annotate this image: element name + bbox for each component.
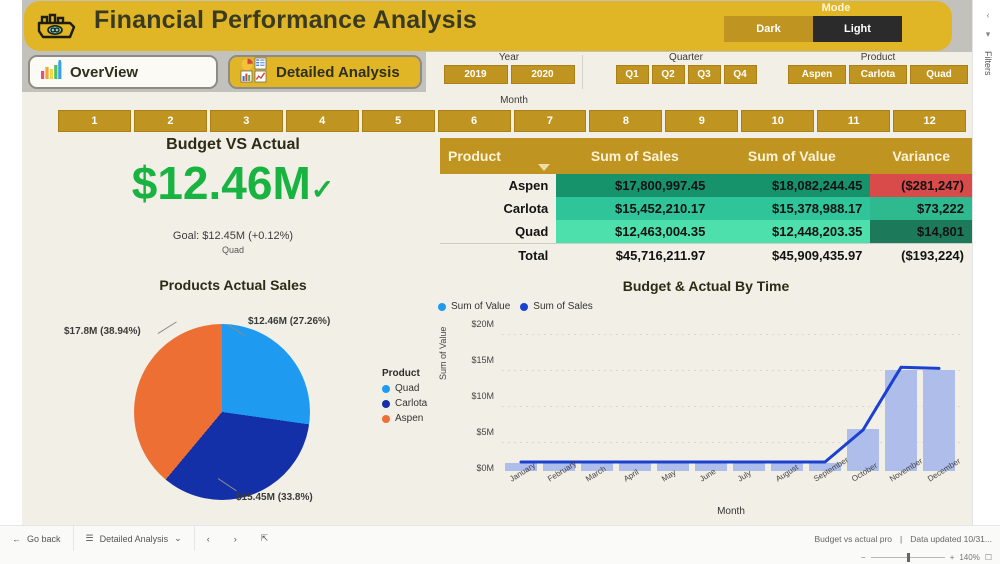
mode-light-button[interactable]: Light xyxy=(813,16,902,42)
tab-bar: OverView xyxy=(24,55,424,91)
quarter-option-q4[interactable]: Q4 xyxy=(724,65,757,84)
month-option-10[interactable]: 10 xyxy=(741,110,814,132)
sort-descending-icon[interactable] xyxy=(538,164,550,171)
legend-item-quad[interactable]: Quad xyxy=(382,383,427,394)
legend-item-sum-of-value[interactable]: Sum of Value xyxy=(438,301,510,312)
column-header-sum-of-value[interactable]: Sum of Value xyxy=(713,138,870,174)
data-updated: Data updated 10/31... xyxy=(910,534,992,544)
cell-sales-aspen: $17,800,997.45 xyxy=(556,174,713,197)
mode-toggle[interactable]: Dark Light xyxy=(724,16,902,42)
check-icon: ✓ xyxy=(311,174,334,205)
filters-pane-label: Filters xyxy=(983,51,993,76)
go-back-button[interactable]: ← Go back xyxy=(0,526,73,551)
tab-overview-label: OverView xyxy=(70,64,138,81)
table-header-row: Product Sum of Sales Sum of Value Varian… xyxy=(440,138,972,174)
quarter-option-q2[interactable]: Q2 xyxy=(652,65,685,84)
fit-to-page-icon[interactable]: ☐ xyxy=(985,553,992,562)
product-option-aspen[interactable]: Aspen xyxy=(788,65,846,84)
pie-label-quad: $12.46M (27.26%) xyxy=(248,316,330,327)
y-tick-15: $15M xyxy=(454,355,494,365)
legend-item-sum-of-sales[interactable]: Sum of Sales xyxy=(520,301,592,312)
y-tick-20: $20M xyxy=(454,319,494,329)
combo-chart[interactable]: Sum of Value $0M $5M $10M $15M $20M xyxy=(440,318,972,518)
column-header-variance[interactable]: Variance xyxy=(870,138,972,174)
info-divider: | xyxy=(900,534,902,544)
column-header-product[interactable]: Product xyxy=(440,138,556,174)
dashboard-charts-icon xyxy=(240,57,268,88)
page-selector-label: Detailed Analysis xyxy=(100,534,169,544)
legend-dot-sum-of-sales xyxy=(520,303,528,311)
slicer-quarter-label: Quarter xyxy=(596,52,776,63)
legend-item-aspen[interactable]: Aspen xyxy=(382,413,427,424)
slicer-bar: Year 2019 2020 Quarter Q1 Q2 Q3 Q4 xyxy=(426,52,972,92)
go-back-label: Go back xyxy=(27,534,61,544)
combo-chart-x-axis-label: Month xyxy=(502,506,960,517)
slicer-product: Product Aspen Carlota Quad xyxy=(784,52,972,84)
pie-legend-title: Product xyxy=(382,368,427,379)
pie-slices[interactable] xyxy=(134,324,310,500)
combo-chart-legend: Sum of Value Sum of Sales xyxy=(438,301,593,312)
tab-detailed-analysis[interactable]: Detailed Analysis xyxy=(228,55,422,89)
y-tick-0: $0M xyxy=(454,463,494,473)
y-tick-5: $5M xyxy=(454,427,494,437)
combo-chart-title: Budget & Actual By Time xyxy=(440,278,972,294)
cell-product-carlota: Carlota xyxy=(440,197,556,220)
report-info: Budget vs actual pro | Data updated 10/3… xyxy=(815,526,992,551)
legend-dot-sum-of-value xyxy=(438,303,446,311)
cell-value-aspen: $18,082,244.45 xyxy=(713,174,870,197)
combo-chart-plot-area xyxy=(502,326,960,471)
previous-page-button[interactable]: ‹ xyxy=(195,526,222,551)
month-option-2[interactable]: 2 xyxy=(134,110,207,132)
zoom-control[interactable]: − + 140% ☐ xyxy=(861,551,992,564)
product-option-carlota[interactable]: Carlota xyxy=(849,65,907,84)
tab-detailed-analysis-label: Detailed Analysis xyxy=(276,64,400,81)
cell-value-total: $45,909,435.97 xyxy=(713,244,870,268)
chevron-left-icon: ‹ xyxy=(207,534,210,544)
filter-funnel-icon[interactable]: ▾ xyxy=(978,29,998,40)
pie-chart[interactable]: $12.46M (27.26%) $15.45M (33.8%) $17.8M … xyxy=(46,300,446,515)
canvas-left-margin xyxy=(0,0,22,525)
slicer-year: Year 2019 2020 xyxy=(436,52,582,84)
sum-of-sales-line[interactable] xyxy=(502,326,960,471)
pie-chart-title: Products Actual Sales xyxy=(46,277,420,293)
legend-label-sum-of-value: Sum of Value xyxy=(451,301,510,312)
mode-dark-button[interactable]: Dark xyxy=(724,16,813,42)
quarter-option-q3[interactable]: Q3 xyxy=(688,65,721,84)
table-row[interactable]: Quad $12,463,004.35 $12,448,203.35 $14,8… xyxy=(440,220,972,244)
hamburger-icon: ☰ xyxy=(86,533,94,544)
cell-product-aspen: Aspen xyxy=(440,174,556,197)
kpi-value: $12.46M xyxy=(132,157,311,209)
kpi-goal: Goal: $12.45M (+0.12%) xyxy=(46,230,420,242)
report-name: Budget vs actual pro xyxy=(815,534,893,544)
page-title: Financial Performance Analysis xyxy=(94,6,477,35)
month-option-11[interactable]: 11 xyxy=(817,110,890,132)
kpi-subtitle: Quad xyxy=(46,245,420,255)
tab-overview[interactable]: OverView xyxy=(28,55,218,89)
month-option-7[interactable]: 7 xyxy=(514,110,587,132)
slicer-month: 1 2 3 4 5 6 7 8 9 10 11 12 xyxy=(58,110,966,132)
legend-label-aspen: Aspen xyxy=(395,413,423,424)
header-region: Financial Performance Analysis Mode Dark… xyxy=(22,0,972,92)
zoom-slider[interactable] xyxy=(871,557,945,558)
zoom-out-button[interactable]: − xyxy=(861,553,866,562)
cell-variance-quad: $14,801 xyxy=(870,220,972,244)
power-bi-report: Financial Performance Analysis Mode Dark… xyxy=(0,0,1000,563)
legend-label-sum-of-sales: Sum of Sales xyxy=(533,301,592,312)
y-tick-10: $10M xyxy=(454,391,494,401)
legend-dot-carlota xyxy=(382,400,390,408)
slicer-quarter: Quarter Q1 Q2 Q3 Q4 xyxy=(596,52,776,84)
zoom-slider-thumb[interactable] xyxy=(907,553,910,562)
product-option-quad[interactable]: Quad xyxy=(910,65,968,84)
quarter-option-q1[interactable]: Q1 xyxy=(616,65,649,84)
money-cash-icon xyxy=(34,7,82,45)
report-canvas: Financial Performance Analysis Mode Dark… xyxy=(22,0,972,525)
year-option-2019[interactable]: 2019 xyxy=(444,65,508,84)
legend-item-carlota[interactable]: Carlota xyxy=(382,398,427,409)
slicer-year-label: Year xyxy=(436,52,582,63)
chevron-right-icon: › xyxy=(234,534,237,544)
kpi-card[interactable]: $12.46M✓ xyxy=(46,160,420,206)
table-row[interactable]: Carlota $15,452,210.17 $15,378,988.17 $7… xyxy=(440,197,972,220)
pie-label-carlota: $15.45M (33.8%) xyxy=(236,492,313,503)
combo-chart-y-axis-label: Sum of Value xyxy=(438,327,448,380)
cell-variance-carlota: $73,222 xyxy=(870,197,972,220)
cell-variance-aspen: ($281,247) xyxy=(870,174,972,197)
month-option-4[interactable]: 4 xyxy=(286,110,359,132)
zoom-in-button[interactable]: + xyxy=(950,553,955,562)
slicer-product-label: Product xyxy=(784,52,972,63)
month-option-6[interactable]: 6 xyxy=(438,110,511,132)
cell-product-total: Total xyxy=(440,244,556,268)
month-option-8[interactable]: 8 xyxy=(589,110,662,132)
table-row[interactable]: Aspen $17,800,997.45 $18,082,244.45 ($28… xyxy=(440,174,972,197)
expand-icon: ⇱ xyxy=(261,533,269,544)
cell-product-quad: Quad xyxy=(440,220,556,244)
zoom-level: 140% xyxy=(959,553,979,562)
pie-legend: Product Quad Carlota Aspen xyxy=(382,368,427,428)
legend-label-quad: Quad xyxy=(395,383,419,394)
slicer-divider xyxy=(582,55,583,89)
header-banner: Financial Performance Analysis Mode Dark… xyxy=(24,1,952,51)
chevron-left-icon[interactable]: ‹ xyxy=(978,10,998,20)
pie-label-aspen: $17.8M (38.94%) xyxy=(64,326,141,337)
month-option-9[interactable]: 9 xyxy=(665,110,738,132)
status-bar: ← Go back ☰ Detailed Analysis ⌄ ‹ › ⇱ Bu… xyxy=(0,525,1000,564)
cell-variance-total: ($193,224) xyxy=(870,244,972,268)
month-option-12[interactable]: 12 xyxy=(893,110,966,132)
kpi-title: Budget VS Actual xyxy=(46,136,420,154)
cell-sales-total: $45,716,211.97 xyxy=(556,244,713,268)
slicer-month-label: Month xyxy=(426,95,602,106)
pie-leader-aspen xyxy=(158,321,177,334)
column-header-sum-of-sales[interactable]: Sum of Sales xyxy=(556,138,713,174)
year-option-2020[interactable]: 2020 xyxy=(511,65,575,84)
product-matrix[interactable]: Product Sum of Sales Sum of Value Varian… xyxy=(440,138,972,267)
mode-label: Mode xyxy=(786,2,886,14)
month-option-3[interactable]: 3 xyxy=(210,110,283,132)
arrow-left-icon: ← xyxy=(12,534,21,544)
fullscreen-button[interactable]: ⇱ xyxy=(249,526,281,551)
cell-sales-carlota: $15,452,210.17 xyxy=(556,197,713,220)
cell-sales-quad: $12,463,004.35 xyxy=(556,220,713,244)
legend-dot-quad xyxy=(382,385,390,393)
table-total-row: Total $45,716,211.97 $45,909,435.97 ($19… xyxy=(440,244,972,268)
month-option-5[interactable]: 5 xyxy=(362,110,435,132)
bar-chart-icon xyxy=(40,60,62,85)
page-selector[interactable]: ☰ Detailed Analysis ⌄ xyxy=(74,526,194,551)
legend-dot-aspen xyxy=(382,415,390,423)
month-option-1[interactable]: 1 xyxy=(58,110,131,132)
filters-pane-collapsed[interactable]: ‹ ▾ Filters xyxy=(978,10,998,81)
legend-label-carlota: Carlota xyxy=(395,398,427,409)
cell-value-quad: $12,448,203.35 xyxy=(713,220,870,244)
chevron-down-icon[interactable]: ⌄ xyxy=(174,533,182,544)
next-page-button[interactable]: › xyxy=(222,526,249,551)
cell-value-carlota: $15,378,988.17 xyxy=(713,197,870,220)
